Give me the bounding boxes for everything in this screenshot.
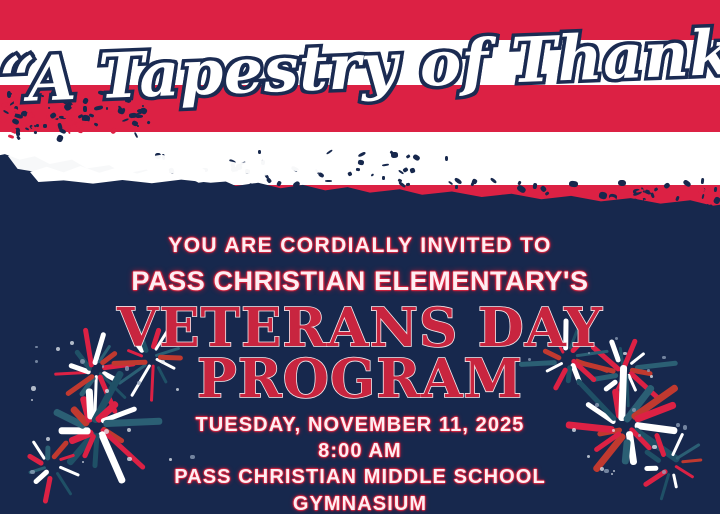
- event-date: TUESDAY, NOVEMBER 11, 2025: [0, 412, 720, 438]
- headline-veterans-day: VETERANS DAY: [0, 304, 720, 353]
- event-venue: PASS CHRISTIAN MIDDLE SCHOOL: [0, 464, 720, 490]
- headline-program: PROGRAM: [0, 355, 720, 404]
- event-venue-room: GYMNASIUM: [0, 491, 720, 514]
- veterans-day-flyer: “A Tapestry of Thanks” YOU ARE CORDIALLY…: [0, 0, 720, 514]
- event-details: TUESDAY, NOVEMBER 11, 2025 8:00 AM PASS …: [0, 412, 720, 514]
- school-name-line: PASS CHRISTIAN ELEMENTARY'S: [0, 266, 720, 297]
- event-time: 8:00 AM: [0, 438, 720, 464]
- invitation-line: YOU ARE CORDIALLY INVITED TO: [0, 234, 720, 258]
- flyer-content: YOU ARE CORDIALLY INVITED TO PASS CHRIST…: [0, 222, 720, 514]
